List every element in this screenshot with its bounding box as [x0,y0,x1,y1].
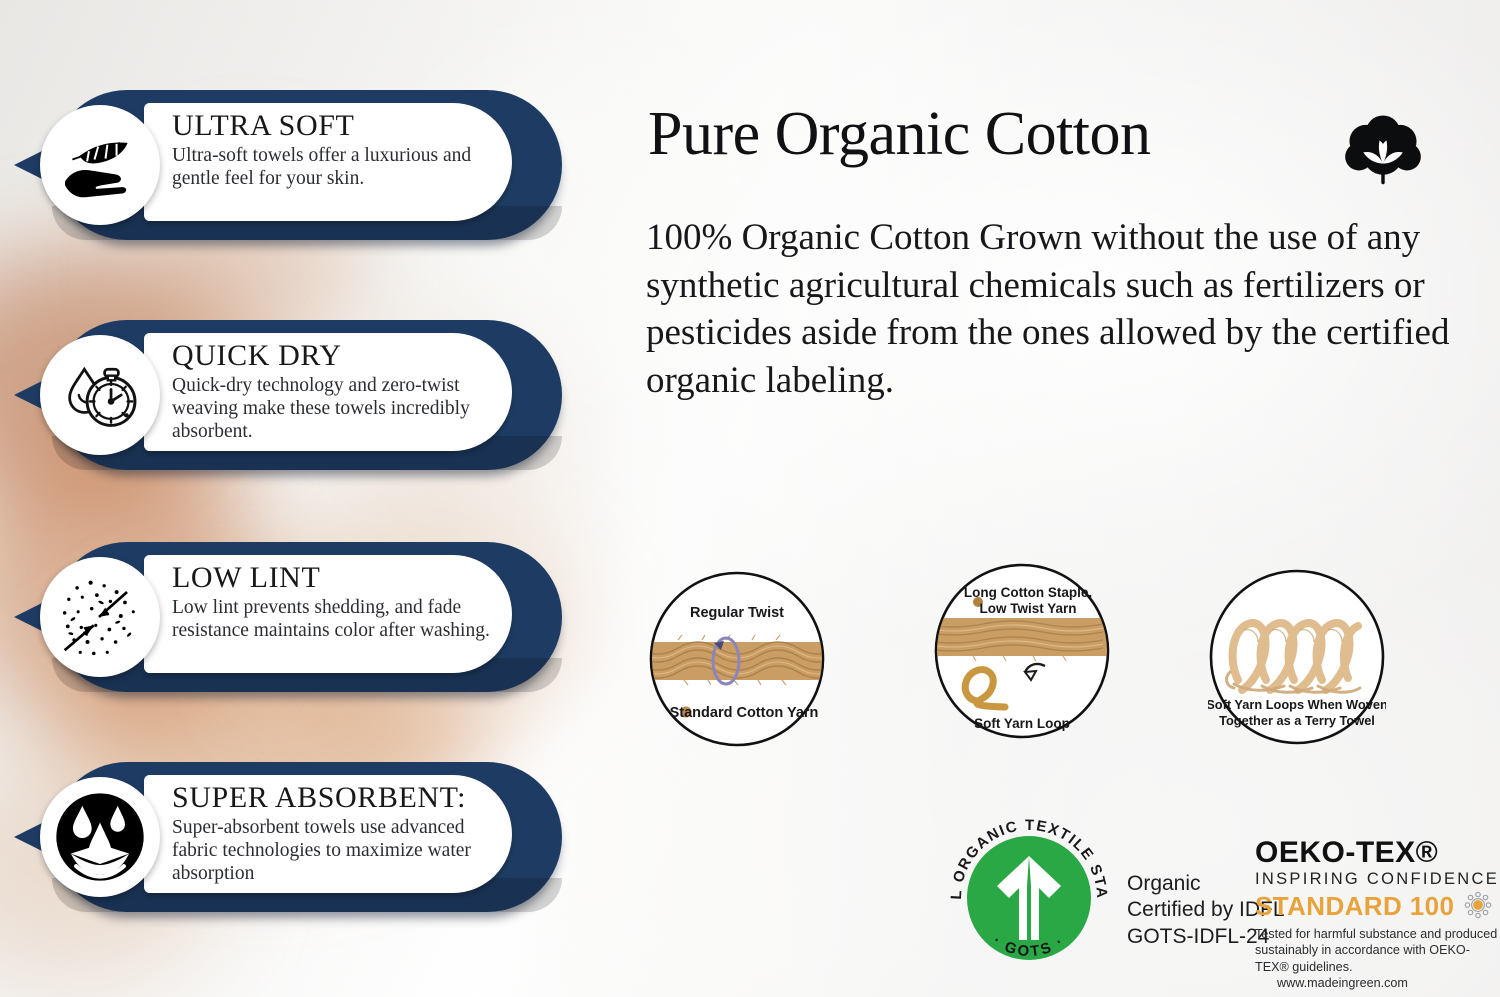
yarn-diagram-low-twist: Long Cotton Staple, Low Twist Yarn Soft … [933,562,1111,740]
oeko-tex-badge: OEKO-TEX® INSPIRING CONFIDENCE STANDARD … [1255,838,1500,992]
yarn-top-label: Regular Twist [690,605,784,621]
droplet-stopwatch-icon [40,335,160,455]
oeko-standard: STANDARD 100 [1255,893,1454,919]
yarn-bottom-label: Soft Yarn Loop [974,716,1070,731]
lint-particles-icon [40,557,160,677]
yarn-top-label-line2: Low Twist Yarn [979,601,1076,616]
terry-label-line1: Soft Yarn Loops When Woven [1208,697,1386,712]
card-text-panel: SUPER ABSORBENT: Super-absorbent towels … [144,775,512,893]
feature-title: QUICK DRY [172,341,496,371]
hand-feather-icon [40,105,160,225]
oeko-url: www.madeingreen.com [1277,976,1408,990]
card-text-panel: ULTRA SOFT Ultra-soft towels offer a lux… [144,103,512,221]
page-title: Pure Organic Cotton [648,103,1448,165]
feature-card-quick-dry[interactable]: QUICK DRY Quick-dry technology and zero-… [14,320,562,470]
features-column: ULTRA SOFT Ultra-soft towels offer a lux… [0,0,600,997]
feature-body: Quick-dry technology and zero-twist weav… [172,374,496,444]
water-absorption-icon [40,777,160,897]
yarn-bottom-label: Standard Cotton Yarn [670,705,819,721]
feature-title: SUPER ABSORBENT: [172,783,496,813]
yarn-diagram-terry-loops: Soft Yarn Loops When Woven Together as a… [1208,568,1386,746]
yarn-diagram-regular-twist: Regular Twist Standard Cotton Yarn [648,570,826,748]
terry-label-line2: Together as a Terry Towel [1219,713,1375,728]
gots-certification-badge: GLOBAL ORGANIC TEXTILE STANDARD · GOTS · [943,812,1115,984]
feature-card-ultra-soft[interactable]: ULTRA SOFT Ultra-soft towels offer a lux… [14,90,562,240]
content-column: Pure Organic Cotton 100% Organic Cotton … [600,0,1500,997]
feature-body: Super-absorbent towels use advanced fabr… [172,816,496,886]
made-in-green-icon [1463,890,1493,920]
feature-title: ULTRA SOFT [172,111,496,141]
feature-card-super-absorbent[interactable]: SUPER ABSORBENT: Super-absorbent towels … [14,762,562,912]
oeko-brand: OEKO-TEX® [1255,838,1500,868]
feature-title: LOW LINT [172,563,496,593]
cotton-boll-icon [1340,112,1426,198]
oeko-tagline: INSPIRING CONFIDENCE [1255,871,1500,888]
feature-card-low-lint[interactable]: LOW LINT Low lint prevents shedding, and… [14,542,562,692]
description-text: 100% Organic Cotton Grown without the us… [646,214,1476,405]
oeko-fineprint: Tested for harmful substance and produce… [1255,927,1497,974]
feature-body: Ultra-soft towels offer a luxurious and … [172,144,496,190]
card-text-panel: LOW LINT Low lint prevents shedding, and… [144,555,512,673]
yarn-top-label-line1: Long Cotton Staple, [964,585,1092,600]
feature-body: Low lint prevents shedding, and fade res… [172,596,496,642]
card-text-panel: QUICK DRY Quick-dry technology and zero-… [144,333,512,451]
